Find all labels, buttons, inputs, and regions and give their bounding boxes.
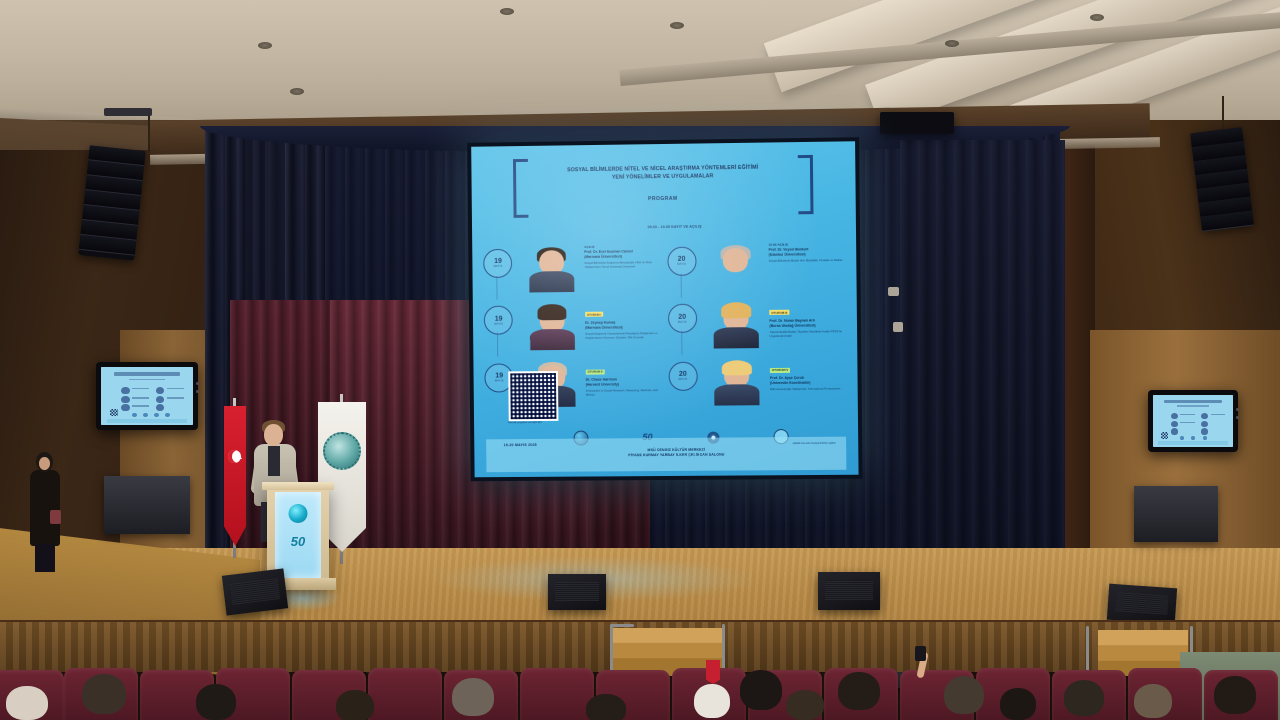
podium-top-surface — [262, 482, 334, 490]
line-array-speaker-left — [78, 145, 145, 260]
opening-session-time: 09.00 - 10.00 KAYIT VE AÇILIŞ — [617, 224, 732, 229]
speaker-entry: 20 MAYIS OTURUM IV — [664, 352, 850, 411]
session-description: Mikrometodolojik Yaklaşımlar: İnternatio… — [770, 387, 850, 392]
audience-head — [786, 690, 824, 720]
event-date: 19-20 MAYIS 2025 — [504, 443, 537, 447]
speaker-entry: 19 MAYIS AÇILIŞ — [480, 239, 664, 298]
audience-head — [944, 676, 984, 714]
audience-head — [336, 690, 374, 720]
stage-monitor-3 — [818, 572, 880, 610]
podium-illuminated-panel: 50 — [275, 492, 321, 578]
speaker-portrait — [524, 242, 580, 293]
slide-title-frame: SOSYAL BİLİMLERDE NİTEL VE NİCEL ARAŞTIR… — [513, 155, 813, 212]
session-description: Yapısal Eşitlik Modeli: Ölçekleri Niceli… — [769, 329, 849, 338]
stage-monitor-4 — [1107, 584, 1177, 625]
speaker-info: OTURUM III Prof. Dr. Nuran Bayram Arlı (… — [769, 300, 849, 338]
handheld-flag — [706, 660, 720, 684]
stage-monitor-1 — [222, 568, 288, 615]
audience-head — [82, 674, 126, 714]
stage-handrail-top — [610, 624, 634, 627]
slide-title-line2: YENİ YÖNELİMLER VE UYGULAMALAR — [612, 173, 714, 180]
speaker-affiliation: (Marmara Üniversitesi) — [585, 325, 623, 329]
speaker-portrait — [708, 297, 764, 348]
session-tag: OTURUM IV — [770, 368, 790, 373]
bracket-right-icon — [798, 155, 814, 215]
date-badge: 20 MAYIS — [668, 361, 697, 390]
timeline-connector — [497, 276, 498, 300]
qr-code — [508, 371, 558, 421]
bracket-left-icon — [513, 159, 529, 218]
audience-head — [1134, 684, 1172, 718]
timeline-connector — [497, 333, 498, 357]
podium-anniversary-label: 50 — [291, 535, 305, 548]
audience-head — [586, 694, 626, 720]
speaker-affiliation: (Bursa Uludağ Üniversitesi) — [769, 323, 815, 327]
audience-head — [694, 684, 730, 718]
mirrored-slide-left — [101, 367, 193, 425]
speaker-hanger — [1222, 96, 1224, 134]
ceiling-downlight — [258, 42, 272, 49]
ceiling-downlight — [670, 22, 684, 29]
wall-sign-icon — [893, 322, 903, 332]
audience-head — [838, 672, 880, 710]
audience-head — [740, 670, 782, 710]
timeline-connector — [680, 273, 681, 297]
session-description: Introduction to Social Research: Measuri… — [586, 388, 665, 397]
overhead-speaker-box — [880, 112, 954, 134]
stage-monitor-2 — [548, 574, 606, 610]
speaker-affiliation: (Üniversite Koordinatör) — [770, 381, 811, 385]
slide-footer: 19-20 MAYIS 2025 MSÜ CENGİZ KÜLTÜR MERKE… — [486, 436, 847, 472]
session-tag: OTURUM II — [585, 369, 604, 374]
date-badge: 19 MAYIS — [484, 306, 513, 335]
date-badge: 20 MAYIS — [667, 246, 696, 275]
program-label: PROGRAM — [514, 194, 813, 204]
audience-head — [452, 678, 494, 716]
venue-hall: PİYADE KURMAY YARBAY İLKER ÇELİKCAN SALO… — [628, 453, 724, 458]
smartphone — [915, 646, 926, 661]
theater-seat — [368, 668, 442, 720]
theater-seat — [520, 668, 594, 720]
wall-monitor-left — [96, 362, 198, 430]
speaker-entry: 20 MAYIS 10.00 AÇILIŞ — [663, 236, 849, 296]
qr-caption: Etkinlik programı ve kayıt için — [508, 420, 568, 423]
session-tag: OTURUM I — [585, 312, 603, 317]
equipment-cabinet-right — [1134, 486, 1218, 542]
speaker-name: Dr. Chase Harrison — [586, 378, 617, 382]
ceiling-mount-plate — [104, 108, 152, 116]
mirrored-slide-right — [1153, 395, 1233, 447]
session-description: Sosyal Bilimlerde Büyük Veri: Büyüklük, … — [769, 258, 849, 263]
audience-head — [1214, 676, 1256, 714]
ceiling-downlight — [290, 88, 304, 95]
speaker-entry: 20 MAYIS — [664, 294, 850, 353]
session-tag: OTURUM III — [769, 310, 789, 315]
timeline-connector — [681, 331, 682, 355]
attendee-face — [39, 457, 50, 470]
presenter-head — [264, 424, 283, 446]
venue-name: MSÜ CENGİZ KÜLTÜR MERKEZİ — [647, 448, 705, 452]
institution-seal-icon — [323, 432, 361, 470]
speaker-info: OTURUM I Dr. Zeynep Kumaş (Marmara Ünive… — [585, 302, 664, 340]
speaker-name: Prof. Dr. Ezel Asuman Cansel — [584, 250, 633, 255]
ceiling-downlight — [945, 40, 959, 47]
auditorium-photo: SOSYAL BİLİMLERDE NİTEL VE NİCEL ARAŞTIR… — [0, 0, 1280, 720]
wall-monitor-right — [1148, 390, 1238, 452]
audience-head — [196, 684, 236, 720]
speaker-name: Prof. Dr. Ayşe Çoruk — [770, 376, 804, 380]
date-badge: 19 MAYIS — [483, 248, 512, 277]
slide-title-line1: SOSYAL BİLİMLERDE NİTEL VE NİCEL ARAŞTIR… — [567, 164, 758, 173]
speaker-name: Dr. Zeynep Kumaş — [585, 320, 615, 324]
speaker-affiliation: (İstanbul Üniversitesi) — [769, 252, 806, 256]
audience-head — [6, 686, 48, 720]
speaker-entry: 19 MAYIS — [480, 296, 664, 355]
star-icon — [236, 454, 242, 459]
attendee-taking-photo — [915, 652, 945, 692]
speaker-info: 10.00 AÇILIŞ Prof. Dr. Veysel Bozkurt (İ… — [769, 242, 849, 263]
session-description: Sosyal Bilimlerde Araştırma Metodolojisi… — [584, 260, 663, 269]
speaker-info: OTURUM IV Prof. Dr. Ayşe Çoruk (Üniversi… — [770, 358, 850, 392]
ceiling-downlight — [500, 8, 514, 15]
projection-screen: SOSYAL BİLİMLERDE NİTEL VE NİCEL ARAŞTIR… — [467, 137, 862, 481]
handbag — [50, 510, 61, 524]
wall-sign-icon — [888, 287, 899, 296]
standing-attendee — [28, 452, 62, 572]
speaker-portrait — [524, 299, 580, 350]
university-circular-emblem-icon — [289, 504, 308, 523]
equipment-cabinet-left — [104, 476, 190, 534]
attendee-body — [30, 470, 60, 546]
speaker-portrait — [709, 355, 765, 406]
session-description: Sosyal Araştırma Yöntemlerinde Paradigma… — [585, 331, 664, 340]
audience-head — [1064, 680, 1104, 716]
speaker-info: AÇILIŞ Prof. Dr. Ezel Asuman Cansel (Mar… — [584, 244, 663, 269]
turkish-national-flag — [224, 406, 246, 546]
speaker-affiliation: (Harvard University) — [586, 382, 619, 386]
attendee-legs — [35, 544, 55, 572]
ceiling-downlight — [1090, 14, 1104, 21]
event-url: etkinlik.msu.edu.tr/sosyal-bilimler-egit… — [734, 442, 836, 446]
program-slide: SOSYAL BİLİMLERDE NİTEL VE NİCEL ARAŞTIR… — [471, 141, 858, 477]
date-badge: 20 MAYIS — [668, 304, 697, 333]
speaker-info: OTURUM II Dr. Chase Harrison (Harvard Un… — [585, 359, 664, 397]
speaker-affiliation: (Marmara Üniversitesi) — [584, 255, 622, 259]
schedule-column-day2: 20 MAYIS 10.00 AÇILIŞ — [663, 236, 850, 411]
speaker-portrait — [708, 240, 764, 291]
presenter-shirt — [268, 446, 280, 476]
audience-head — [1000, 688, 1036, 720]
